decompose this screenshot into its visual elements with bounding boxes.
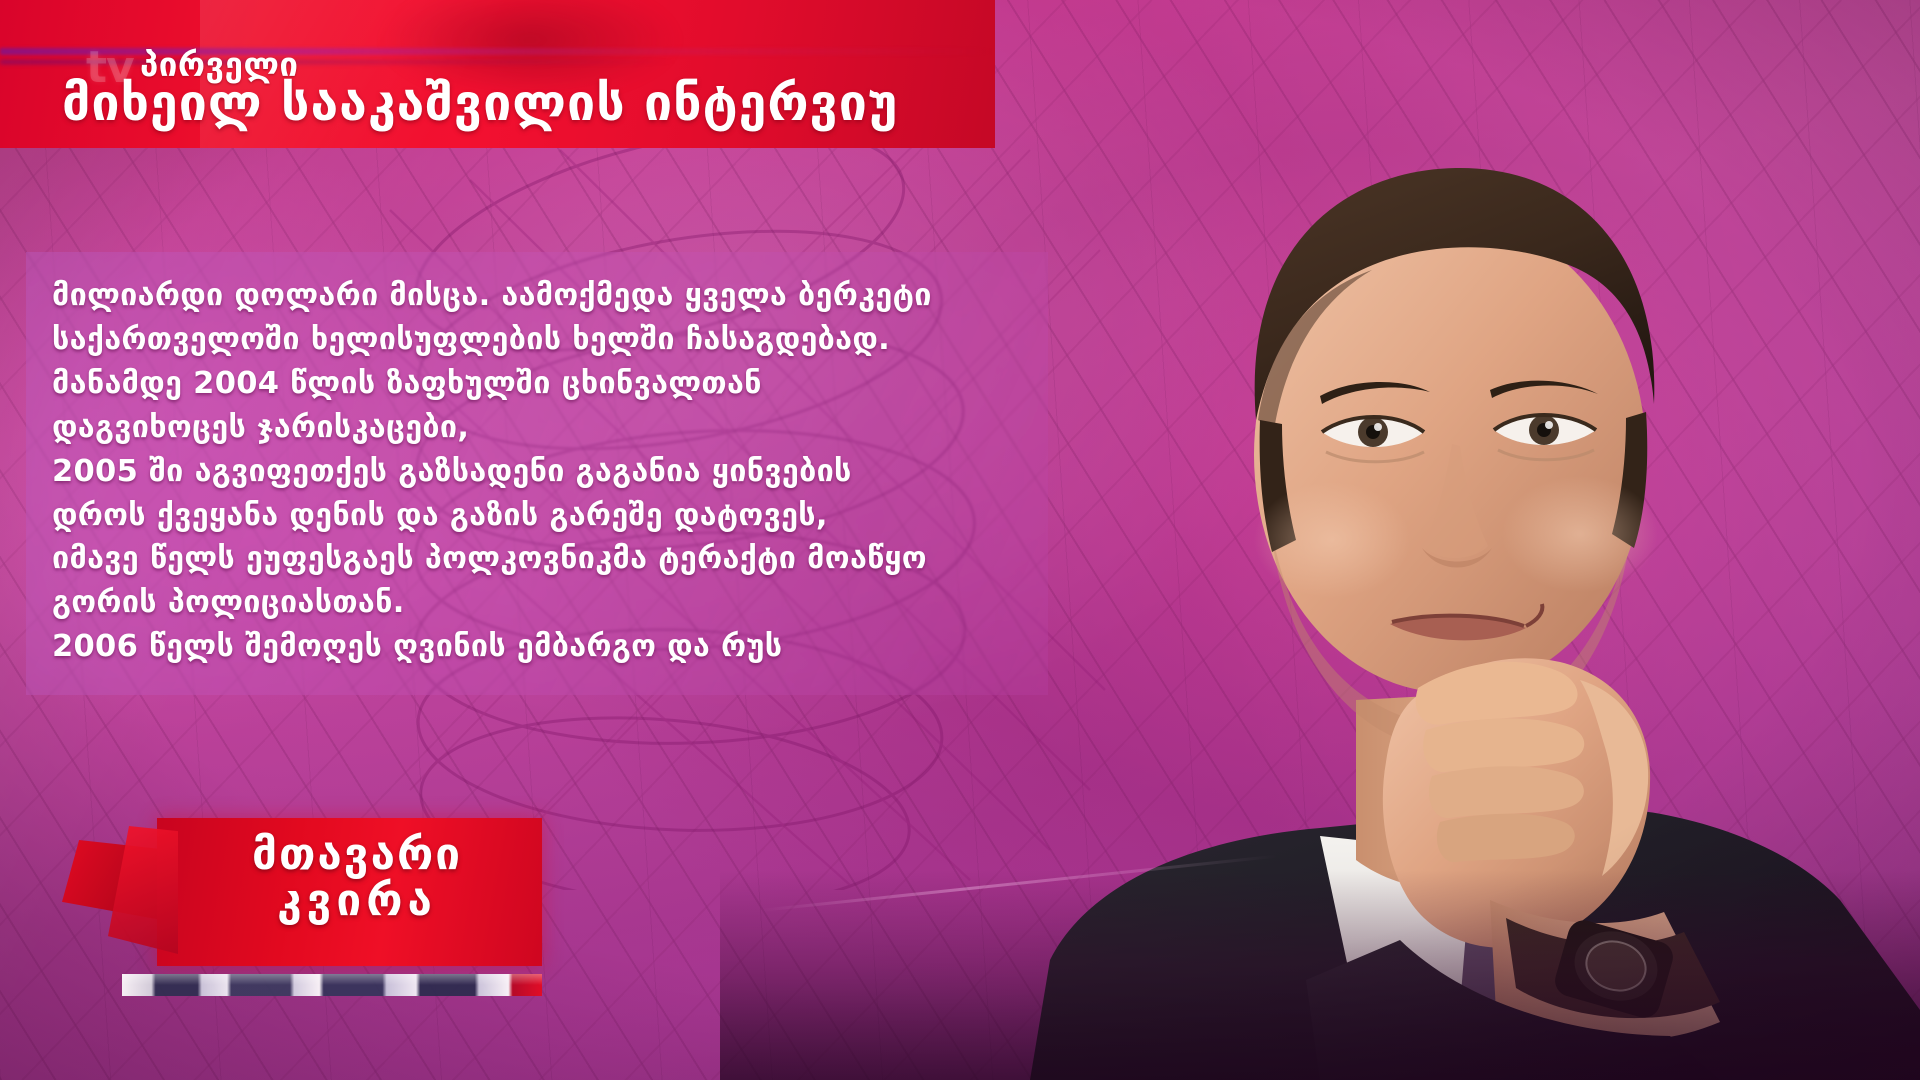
broadcast-screen: tv პირველი მიხეილ სააკაშვილის ინტერვიუ მ… <box>0 0 1920 1080</box>
station-program-bug: მთავარი კვირა <box>62 818 542 1008</box>
subtitle-line: იმავე წელს ეუფესგაეს პოლკოვნიკმა ტერაქტი… <box>52 537 1022 581</box>
subtitle-line: დროს ქვეყანა დენის და გაზის გარეშე დატოვ… <box>52 494 1022 538</box>
subtitle-line: 2005 ში აგვიფეთქეს გაზსადენი გაგანია ყინ… <box>52 450 1022 494</box>
subtitle-line: 2006 წელს შემოღეს ღვინის ემბარგო და რუს <box>52 625 1022 669</box>
subtitle-line: საქართველოში ხელისუფლების ხელში ჩასაგდებ… <box>52 318 1022 362</box>
bug-line-1: მთავარი <box>172 832 542 878</box>
bug-filmstrip-gloss <box>122 974 542 985</box>
subtitle-line: მილიარდი დოლარი მისცა. აამოქმედა ყველა ბ… <box>52 274 1022 318</box>
header-title: მიხეილ სააკაშვილის ინტერვიუ <box>62 78 898 128</box>
subtitle-line: გორის პოლიციასთან. <box>52 581 1022 625</box>
subtitle-line: მანამდე 2004 წლის ზაფხულში ცხინვალთან <box>52 362 1022 406</box>
bug-line-2: კვირა <box>172 878 542 924</box>
header-banner: tv პირველი მიხეილ სააკაშვილის ინტერვიუ <box>0 0 995 148</box>
subtitle-line: დაგვიხოცეს ჯარისკაცები, <box>52 406 1022 450</box>
bug-program-name: მთავარი კვირა <box>172 832 542 924</box>
subtitle-panel: მილიარდი დოლარი მისცა. აამოქმედა ყველა ბ… <box>26 252 1048 695</box>
